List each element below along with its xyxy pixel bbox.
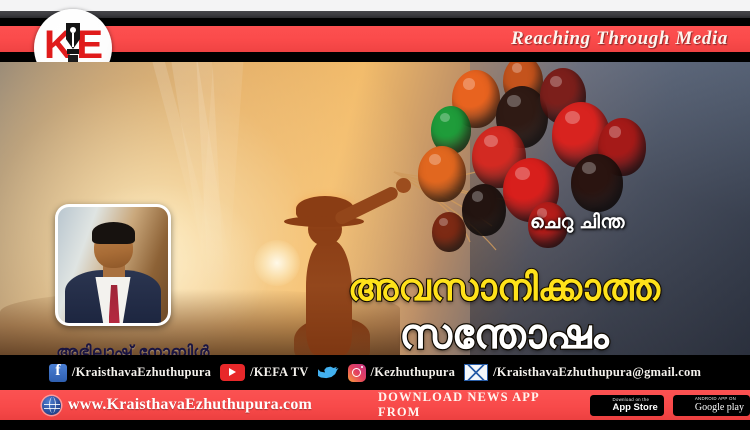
balloon [418, 146, 466, 202]
social-links-bar: /KraisthavaEzhuthupura /KEFA TV /Kezhuth… [0, 355, 750, 390]
website-url: www.KraisthavaEzhuthupura.com [68, 396, 312, 414]
social-item-instagram[interactable]: /Kezhuthupura [348, 364, 456, 382]
google-play-icon [679, 398, 691, 412]
author-photo-image [58, 207, 168, 323]
poster-canvas: Reaching Through Media K E REACHING THRO… [0, 0, 750, 430]
globe-icon [42, 396, 61, 415]
footer-black-strip [0, 420, 750, 430]
youtube-icon[interactable] [220, 364, 245, 381]
email-address: /KraisthavaEzhuthupura@gmail.com [493, 365, 701, 380]
download-label: DOWNLOAD NEWS APP FROM [378, 390, 581, 420]
facebook-handle: /KraisthavaEzhuthupura [72, 365, 211, 380]
balloon [571, 154, 623, 212]
social-item-facebook[interactable]: /KraisthavaEzhuthupura [49, 364, 211, 382]
logo-letter-e: E [76, 25, 103, 65]
social-item-twitter[interactable] [318, 364, 339, 382]
headline-line-1: അവസാനിക്കാത്ത [280, 268, 728, 309]
kicker-label: ചെറു ചിന്ത [530, 212, 625, 234]
author-photo [55, 204, 171, 326]
social-item-youtube[interactable]: /KEFA TV [220, 364, 308, 381]
footer-red-bar: www.KraisthavaEzhuthupura.com DOWNLOAD N… [0, 390, 750, 420]
email-icon[interactable] [464, 364, 488, 381]
top-margin [0, 0, 750, 11]
header-gray-strip [0, 11, 750, 18]
balloon [462, 184, 506, 236]
headline-block: അവസാനിക്കാത്ത സന്തോഷം [280, 268, 728, 355]
apple-icon [596, 398, 608, 412]
app-store-main-label: App Store [612, 403, 657, 413]
brand-tagline: Reaching Through Media [511, 28, 728, 50]
instagram-icon[interactable] [348, 364, 366, 382]
author-name: അഭിലാഷ് നോബിൾ [0, 344, 266, 355]
youtube-handle: /KEFA TV [250, 365, 308, 380]
headline-line-2: സന്തോഷം [280, 311, 728, 355]
pen-nib-icon [66, 23, 80, 65]
instagram-handle: /Kezhuthupura [371, 365, 456, 380]
balloon [432, 212, 466, 252]
main-artwork: ചെറു ചിന്ത അവസാനിക്കാത്ത സന്തോഷം അഭിലാഷ്… [0, 62, 750, 355]
app-store-badge[interactable]: Download on the App Store [590, 395, 663, 416]
twitter-icon[interactable] [318, 364, 339, 382]
header-black-strip-lower [0, 52, 750, 62]
google-play-main-label: Google play [695, 403, 744, 413]
website-link[interactable]: www.KraisthavaEzhuthupura.com [42, 390, 312, 420]
social-item-email[interactable]: /KraisthavaEzhuthupura@gmail.com [464, 364, 701, 381]
facebook-icon[interactable] [49, 364, 67, 382]
google-play-badge[interactable]: ANDROID APP ON Google play [673, 395, 750, 416]
header-black-strip-upper [0, 18, 750, 26]
app-download-group: DOWNLOAD NEWS APP FROM Download on the A… [378, 390, 750, 420]
